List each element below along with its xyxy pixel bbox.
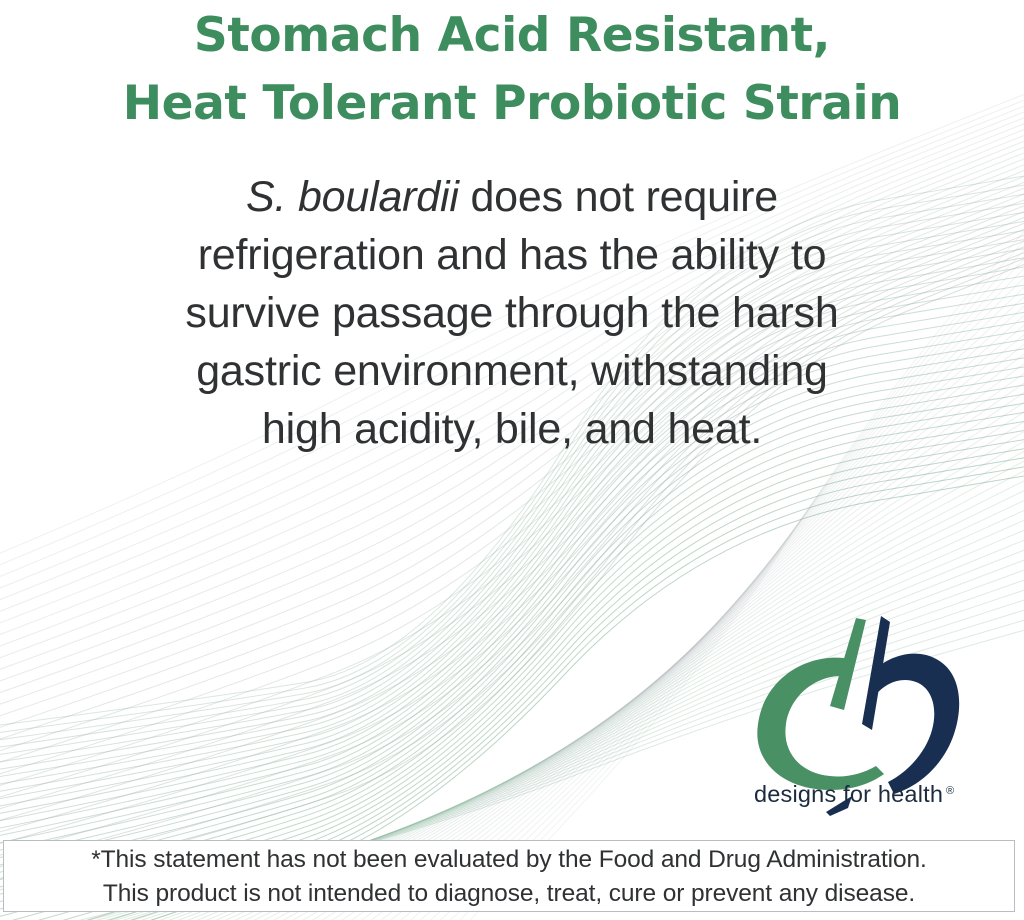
disclaimer-line-1: *This statement has not been evaluated b… (4, 843, 1014, 877)
page-title: Stomach Acid Resistant, Heat Tolerant Pr… (0, 2, 1024, 138)
body-line-5: high acidity, bile, and heat. (0, 400, 1024, 458)
poster-content: Stomach Acid Resistant, Heat Tolerant Pr… (0, 0, 1024, 920)
body-paragraph: S. boulardii does not require refrigerat… (0, 168, 1024, 458)
body-line-4: gastric environment, withstanding (0, 342, 1024, 400)
body-line-2: refrigeration and has the ability to (0, 226, 1024, 284)
fda-disclaimer: *This statement has not been evaluated b… (3, 840, 1015, 912)
body-line-1-rest: does not require (459, 173, 778, 221)
headline-line-1: Stomach Acid Resistant, (0, 2, 1024, 70)
disclaimer-line-2: This product is not intended to diagnose… (4, 877, 1014, 911)
species-name: S. boulardii (246, 173, 459, 221)
logo-wordmark: designs for health (754, 781, 943, 807)
designs-for-health-logo: designs for health ® (748, 606, 980, 818)
logo-h-bowl (872, 654, 959, 794)
logo-registered-mark: ® (946, 785, 954, 797)
body-line-3: survive passage through the harsh (0, 284, 1024, 342)
body-line-1: S. boulardii does not require (0, 168, 1024, 226)
headline-line-2: Heat Tolerant Probiotic Strain (0, 70, 1024, 138)
